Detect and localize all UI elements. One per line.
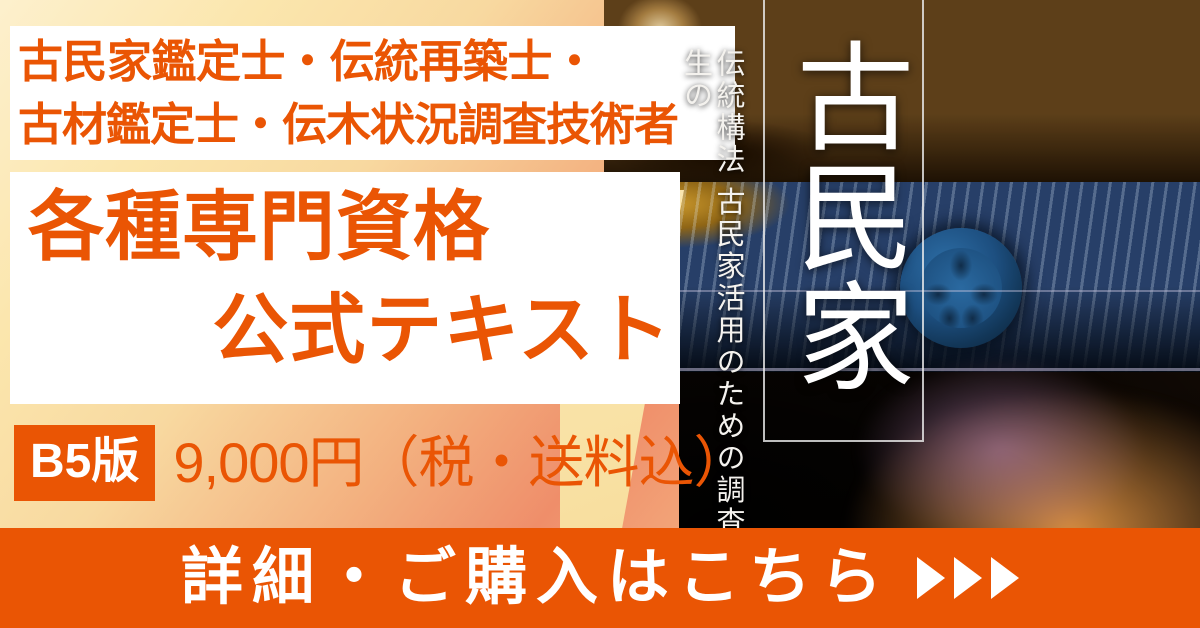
triangle-right-icon-1	[917, 557, 945, 599]
format-badge: B5版	[14, 425, 155, 501]
triangle-right-icon-2	[954, 557, 982, 599]
headline-line-2: 古材鑑定士・伝木状況調査技術者	[18, 93, 733, 156]
subheadline-line-2: 公式テキスト	[10, 279, 678, 382]
triangle-right-icon	[917, 557, 1019, 599]
headline: 古民家鑑定士・伝統再築士・ 古材鑑定士・伝木状況調査技術者	[18, 30, 733, 156]
headline-line-1: 古民家鑑定士・伝統再築士・	[18, 30, 733, 93]
subheadline: 各種専門資格 公式テキスト	[10, 176, 678, 383]
price-row: B5版 9,000円（税・送料込）	[14, 425, 749, 501]
subheadline-line-1: 各種専門資格	[10, 176, 678, 279]
cta-label: 詳細・ご購入はこちら	[181, 547, 891, 609]
cta-bar[interactable]: 詳細・ご購入はこちら	[0, 528, 1200, 628]
cover-title: 古民家	[770, 6, 910, 426]
promo-banner[interactable]: 古民家 伝統構法 古民家活用のための調査と再生の 古民家鑑定士・伝統再築士・ 古…	[0, 0, 1200, 628]
triangle-right-icon-3	[991, 557, 1019, 599]
price-label: 9,000円（税・送料込）	[173, 435, 748, 491]
